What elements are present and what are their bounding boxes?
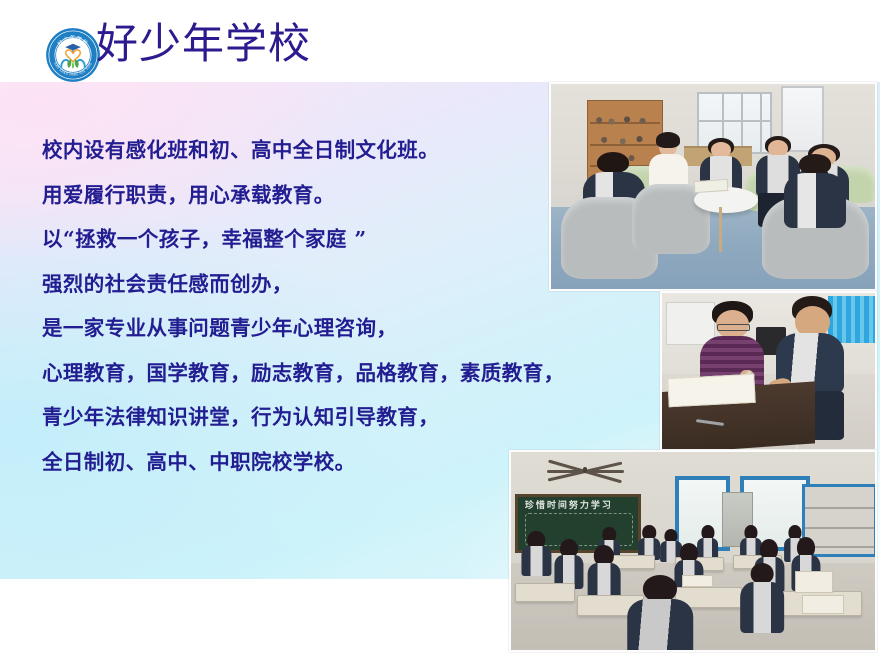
description-line: 全日制初、高中、中职院校学校。 [42,440,552,485]
school-logo-icon: 好少年学校 HAO SHAO NIAN XUE XIAO [45,27,101,83]
description-line: 强烈的社会责任感而创办， [42,262,552,307]
description-line: 以“拯救一个孩子，幸福整个家庭 ” [42,217,552,262]
slide-header: 好少年学校 HAO SHAO NIAN XUE XIAO [0,0,880,82]
page-title: 好少年学校 [96,16,311,72]
photo-full-time-classroom: 珍惜时间努力学习 [509,450,877,652]
description-text-block: 校内设有感化班和初、高中全日制文化班。 用爱履行职责，用心承载教育。 以“拯救一… [42,128,552,484]
chalkboard-slogan: 珍惜时间努力学习 [525,498,636,511]
photo-group-counseling [549,82,877,291]
photo-one-on-one-tutoring [660,291,877,451]
description-line: 青少年法律知识讲堂，行为认知引导教育， [42,395,552,440]
description-line: 是一家专业从事问题青少年心理咨询， [42,306,552,351]
description-line: 校内设有感化班和初、高中全日制文化班。 [42,128,552,173]
description-line: 心理教育，国学教育，励志教育，品格教育，素质教育， [42,351,552,396]
slide-root: 好少年学校 HAO SHAO NIAN XUE XIAO [0,0,880,660]
description-line: 用爱履行职责，用心承载教育。 [42,173,552,218]
